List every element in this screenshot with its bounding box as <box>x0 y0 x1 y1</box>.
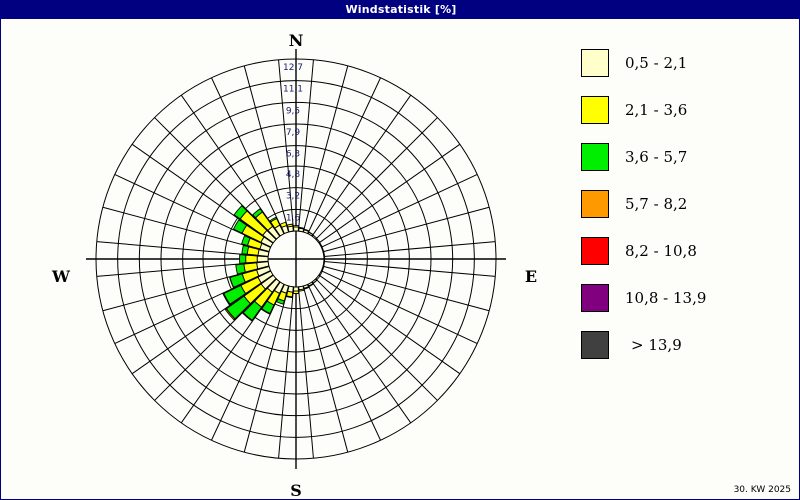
windrose-segment <box>236 264 245 274</box>
legend: 0,5 - 2,12,1 - 3,63,6 - 5,75,7 - 8,28,2 … <box>581 39 796 368</box>
radial-tick-label: 9,5 <box>286 106 300 116</box>
legend-item[interactable]: 3,6 - 5,7 <box>581 133 796 180</box>
radial-tick-label: 7,9 <box>286 128 301 138</box>
legend-item[interactable]: 0,5 - 2,1 <box>581 39 796 86</box>
windrose-segment <box>293 226 298 227</box>
legend-swatch-icon <box>581 284 609 312</box>
legend-label: 2,1 - 3,6 <box>625 101 687 119</box>
window-title: Windstatistik [%] <box>1 1 800 19</box>
grid-spoke <box>303 66 348 232</box>
grid-spoke <box>323 207 489 252</box>
windrose-segment <box>319 243 322 247</box>
windstatistik-window: Windstatistik [%] 1,63,24,86,37,99,511,1… <box>0 0 800 500</box>
windrose-segment <box>293 291 298 294</box>
legend-swatch-icon <box>581 237 609 265</box>
legend-item[interactable]: > 13,9 <box>581 321 796 368</box>
legend-swatch-icon <box>581 49 609 77</box>
windrose-segment <box>294 227 299 231</box>
legend-label: > 13,9 <box>631 336 682 354</box>
windrose-segment <box>246 255 258 263</box>
compass-label-south: S <box>276 481 316 500</box>
windrose-segment <box>319 271 322 275</box>
legend-item[interactable]: 2,1 - 3,6 <box>581 86 796 133</box>
windrose-petals <box>223 206 325 321</box>
windrose-segment <box>299 289 304 291</box>
legend-item[interactable]: 5,7 - 8,2 <box>581 180 796 227</box>
compass-label-west: W <box>41 267 81 286</box>
footer-week-label: 30. KW 2025 <box>734 485 791 495</box>
legend-label: 8,2 - 10,8 <box>625 242 697 260</box>
legend-swatch-icon <box>581 143 609 171</box>
windrose-segment <box>242 245 249 254</box>
radial-tick-label: 12,7 <box>283 63 303 73</box>
compass-label-east: E <box>511 267 551 286</box>
windrose-segment <box>312 235 316 239</box>
legend-swatch-icon <box>581 190 609 218</box>
windrose-segment <box>321 267 323 271</box>
windrose-segment <box>287 224 292 227</box>
radial-tick-label: 3,2 <box>286 192 300 202</box>
grid-spoke <box>323 266 489 311</box>
legend-item[interactable]: 8,2 - 10,8 <box>581 227 796 274</box>
windrose-segment <box>324 257 325 261</box>
radial-tick-label: 4,8 <box>286 170 301 180</box>
windrose-segment <box>240 255 246 264</box>
grid-spoke <box>303 286 348 452</box>
compass-label-north: N <box>276 31 316 50</box>
windrose-segment <box>257 256 268 262</box>
radial-tick-label: 1,6 <box>286 213 301 223</box>
legend-label: 5,7 - 8,2 <box>625 195 687 213</box>
windrose-segment <box>294 287 299 291</box>
radial-tick-label: 11,1 <box>283 85 303 95</box>
windrose-chart: 1,63,24,86,37,99,511,112,7 <box>1 19 561 500</box>
radial-tick-label: 6,3 <box>286 150 300 160</box>
legend-swatch-icon <box>581 96 609 124</box>
legend-label: 0,5 - 2,1 <box>625 54 687 72</box>
legend-label: 3,6 - 5,7 <box>625 148 687 166</box>
windrose-segment <box>321 247 323 251</box>
legend-swatch-icon <box>581 331 609 359</box>
legend-label: 10,8 - 13,9 <box>625 289 706 307</box>
windrose-segment <box>316 275 320 279</box>
legend-item[interactable]: 10,8 - 13,9 <box>581 274 796 321</box>
